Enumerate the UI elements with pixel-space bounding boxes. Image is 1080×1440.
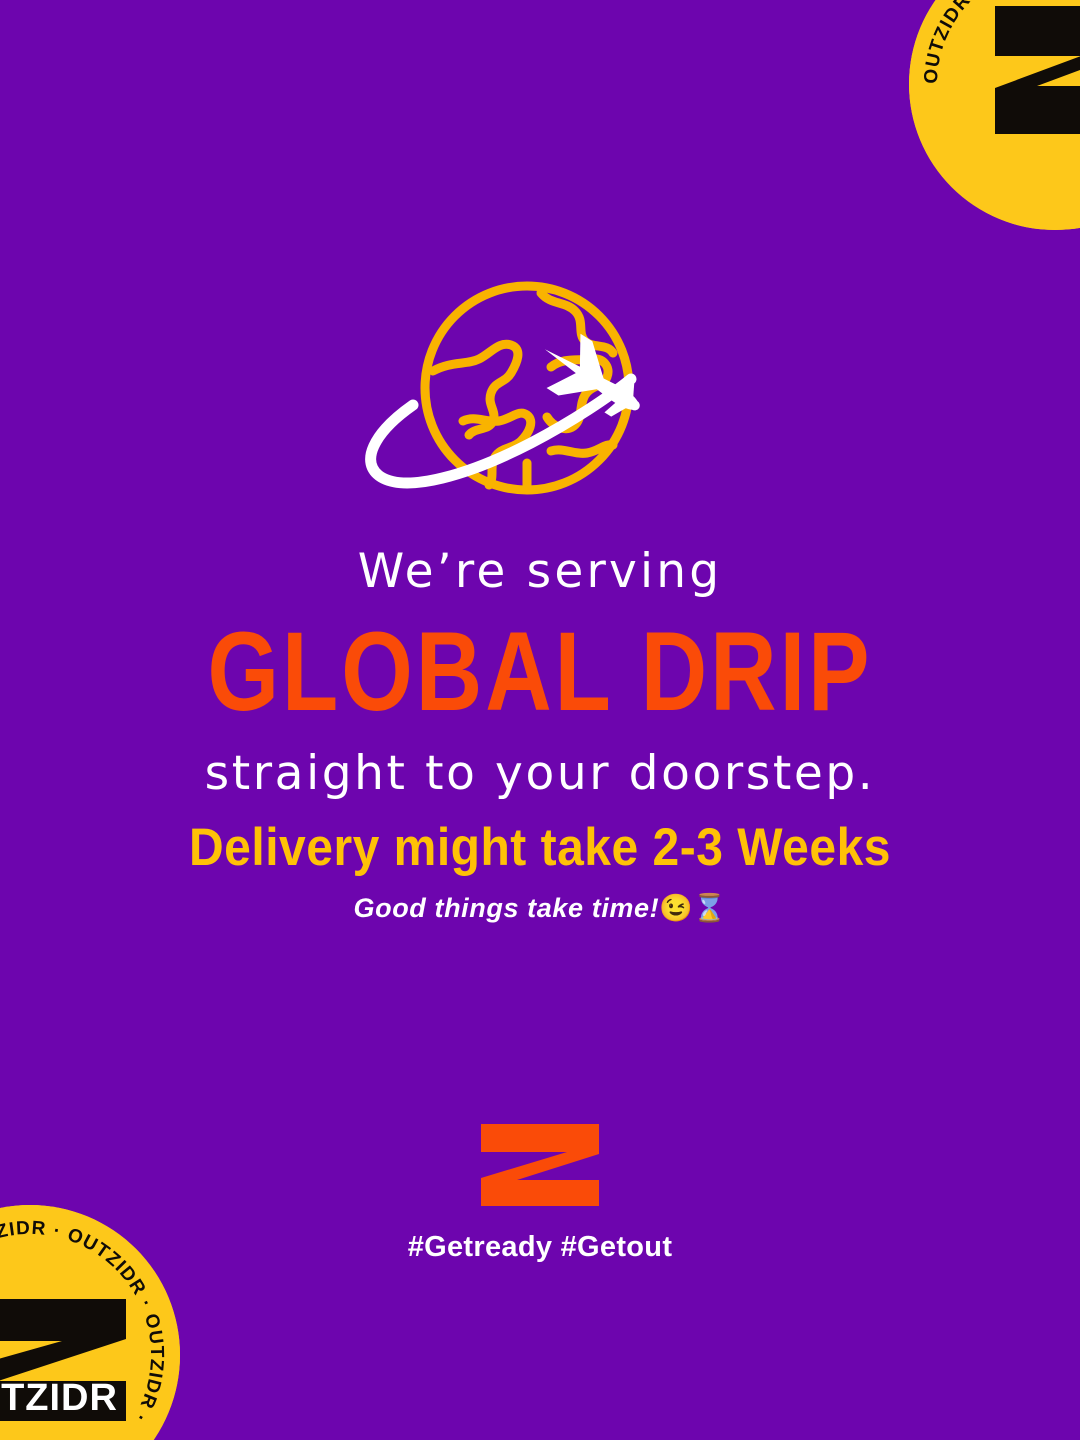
z-logo-icon: [475, 1122, 605, 1208]
delivery-subtext: Good things take time!😉⌛: [0, 892, 1080, 924]
seal-center-wordmark: OUTZIDR: [0, 1377, 118, 1419]
headline-line-3: straight to your doorstep.: [0, 750, 1080, 797]
delivery-subtext-label: Good things take time!: [354, 893, 660, 923]
globe-airplane-illustration: [355, 275, 715, 515]
delivery-block: Delivery might take 2-3 Weeks Good thing…: [0, 822, 1080, 924]
delivery-headline: Delivery might take 2-3 Weeks: [0, 822, 1080, 875]
promo-poster: OUTZIDR · OUTZIDR · OUTZIDR · OUTZIDR ·: [0, 0, 1080, 1440]
delivery-emoji: 😉⌛: [659, 893, 726, 923]
headline-line-2: GLOBAL DRIP: [0, 616, 1080, 728]
outzidr-seal-bottom-left: OUTZIDR · OUTZIDR · OUTZIDR · OUTZIDR · …: [0, 1205, 180, 1440]
headline-line-1: We’re serving: [0, 548, 1080, 595]
headline-block: We’re serving GLOBAL DRIP straight to yo…: [0, 548, 1080, 797]
outzidr-seal-top-right: OUTZIDR · OUTZIDR · OUTZIDR · OUTZIDR ·: [909, 0, 1080, 230]
